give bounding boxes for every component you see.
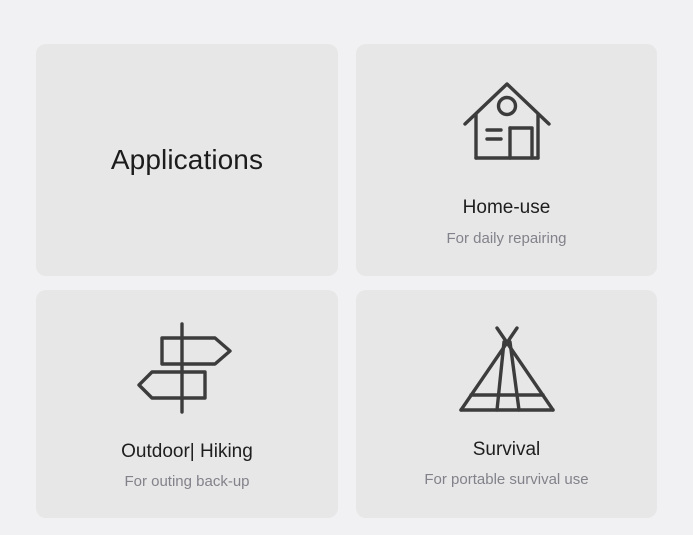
card-subtitle: For outing back-up — [124, 472, 249, 492]
card-home-use[interactable]: Home-use For daily repairing — [356, 44, 657, 276]
card-survival[interactable]: Survival For portable survival use — [356, 290, 657, 518]
tent-icon — [457, 324, 557, 416]
house-icon — [459, 74, 555, 170]
card-subtitle: For daily repairing — [446, 229, 566, 249]
card-outdoor-hiking[interactable]: Outdoor| Hiking For outing back-up — [36, 290, 338, 518]
applications-grid: Applications Home- — [36, 44, 657, 518]
card-title: Outdoor| Hiking — [121, 440, 253, 464]
card-subtitle: For portable survival use — [424, 470, 588, 490]
page-title: Applications — [111, 143, 263, 177]
signpost-icon — [137, 320, 237, 416]
card-title: Survival — [473, 438, 541, 462]
card-title: Home-use — [463, 196, 551, 220]
card-applications[interactable]: Applications — [36, 44, 338, 276]
